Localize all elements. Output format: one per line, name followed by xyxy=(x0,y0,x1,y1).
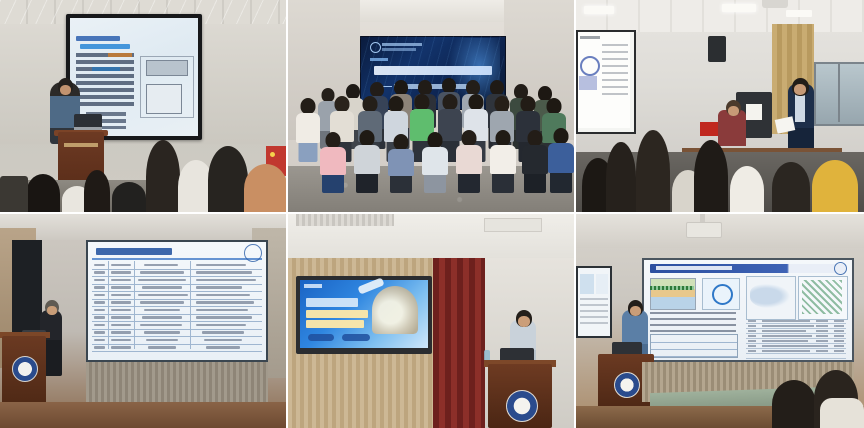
ceiling xyxy=(0,214,286,240)
slide-university-emblem-icon xyxy=(244,244,262,262)
presenter-face xyxy=(518,316,530,327)
slide-title-text xyxy=(656,266,732,270)
secondary-display-text xyxy=(580,298,608,328)
ceiling-light xyxy=(584,6,614,14)
wall-speaker xyxy=(708,36,726,62)
audience-head xyxy=(112,182,146,214)
audience-head xyxy=(146,140,180,214)
dark-wall-panel xyxy=(12,240,42,338)
audience-head xyxy=(208,146,248,214)
ceiling-light xyxy=(722,4,756,12)
slide-figure-cross-section xyxy=(650,278,696,310)
standing-presenter-shirt xyxy=(795,94,805,122)
slide-tag-right xyxy=(342,334,370,341)
whiteboard-block xyxy=(579,76,597,90)
group-person-seated xyxy=(422,132,448,190)
audience-head xyxy=(772,162,810,214)
slide-figure-layer-stripes xyxy=(650,286,694,290)
slide-highlight-orange xyxy=(108,53,132,57)
flag-star xyxy=(270,152,275,157)
audience-head xyxy=(244,164,288,214)
ceiling-vent xyxy=(484,218,542,232)
secondary-display-figure-b xyxy=(596,274,608,294)
audience-head xyxy=(26,174,60,214)
ring-resonator-icon xyxy=(712,284,733,305)
presenter-face xyxy=(630,306,641,316)
stage-curtain xyxy=(86,362,268,402)
audience-head xyxy=(636,130,670,214)
group-person-seated xyxy=(548,128,574,190)
audience-head xyxy=(772,380,816,428)
whiteboard-header-text xyxy=(580,36,600,39)
spectral-map-blob xyxy=(750,284,790,308)
group-person-seated xyxy=(456,130,482,190)
slide-logo xyxy=(304,284,322,288)
photo-collage: 超声波加工 超声加工是利用超声波在介质中传播所产生的机械振动，对工件产生冲击性和… xyxy=(0,0,864,428)
group-person-seated xyxy=(354,130,380,190)
slide-body-text xyxy=(76,53,134,109)
small-chinese-flag xyxy=(700,122,718,136)
standing-presenter-face xyxy=(794,84,806,95)
slide-body-text xyxy=(650,312,736,332)
group-person-seated xyxy=(490,130,516,190)
slide-figure-probe xyxy=(146,60,188,76)
slide-dome-graphic xyxy=(372,286,418,334)
photo-panel-top-left: 超声波加工 超声加工是利用超声波在介质中传播所产生的机械振动，对工件产生冲击性和… xyxy=(0,0,288,214)
window-mullion xyxy=(838,62,840,122)
red-curtain xyxy=(433,258,485,428)
podium-text-plate xyxy=(64,143,98,147)
photo-panel-bottom-middle: 2001~2025 从厦大到中科院： 我的求学科研经历 xyxy=(288,214,576,428)
university-emblem-icon xyxy=(12,356,38,382)
audience-head xyxy=(730,166,764,214)
presenter-face xyxy=(60,85,71,95)
slide-subtitle-bar xyxy=(80,44,130,49)
whiteboard-logo-icon xyxy=(580,56,600,76)
audience-chair xyxy=(0,176,28,214)
group-person-seated xyxy=(388,134,414,190)
group-person-seated xyxy=(522,130,548,190)
ceiling xyxy=(576,0,864,32)
scatter-plot-points xyxy=(802,280,842,314)
air-conditioner-vents xyxy=(296,214,394,226)
photo-panel-top-right: Seminar room, man in dark suit standing … xyxy=(576,0,864,214)
slide-title xyxy=(96,248,172,255)
slide-university-emblem-icon xyxy=(834,262,847,275)
slide-headline-line1 xyxy=(306,310,368,318)
slide-results-table xyxy=(746,318,846,358)
slide-table xyxy=(92,261,262,349)
slide-highlight-blue xyxy=(92,67,120,71)
photo-panel-top-middle: 电子科学与技术学院第五期芯语沙龙 “芯芯向荣” 学科交叉论坛 xyxy=(288,0,576,214)
seated-participant-face xyxy=(728,106,739,116)
audience-head xyxy=(694,140,728,214)
university-emblem-icon xyxy=(506,390,538,422)
secondary-display-figure-a xyxy=(580,274,594,294)
slide-figure-tank xyxy=(146,84,182,114)
ceiling-projector xyxy=(686,222,722,238)
group-front-row xyxy=(288,0,576,214)
whiteboard-body-text xyxy=(602,44,628,98)
slide-title-rule xyxy=(92,258,262,260)
ceiling-light xyxy=(786,10,812,17)
slide-title-bar xyxy=(76,36,120,41)
audience-body xyxy=(820,398,864,428)
stage-floor xyxy=(0,402,286,428)
audience-head xyxy=(84,170,110,214)
presenter-face xyxy=(47,306,57,315)
audience-head xyxy=(606,142,636,214)
photo-panel-bottom-right: 3.1 量子光源单光子产生机制及QCL xyxy=(576,214,864,428)
group-person-seated xyxy=(320,132,346,190)
slide-parameter-table xyxy=(650,334,738,358)
slide-tag-left xyxy=(308,334,334,341)
slide-year-range xyxy=(306,298,358,307)
cabinet-paper xyxy=(746,104,762,120)
ceiling-projector xyxy=(762,0,788,8)
slide-headline-line2 xyxy=(306,320,364,328)
university-emblem-icon xyxy=(614,372,640,398)
audience-head xyxy=(812,160,858,214)
photo-panel-bottom-left: 团队概况—成员及核心能力 xyxy=(0,214,288,428)
